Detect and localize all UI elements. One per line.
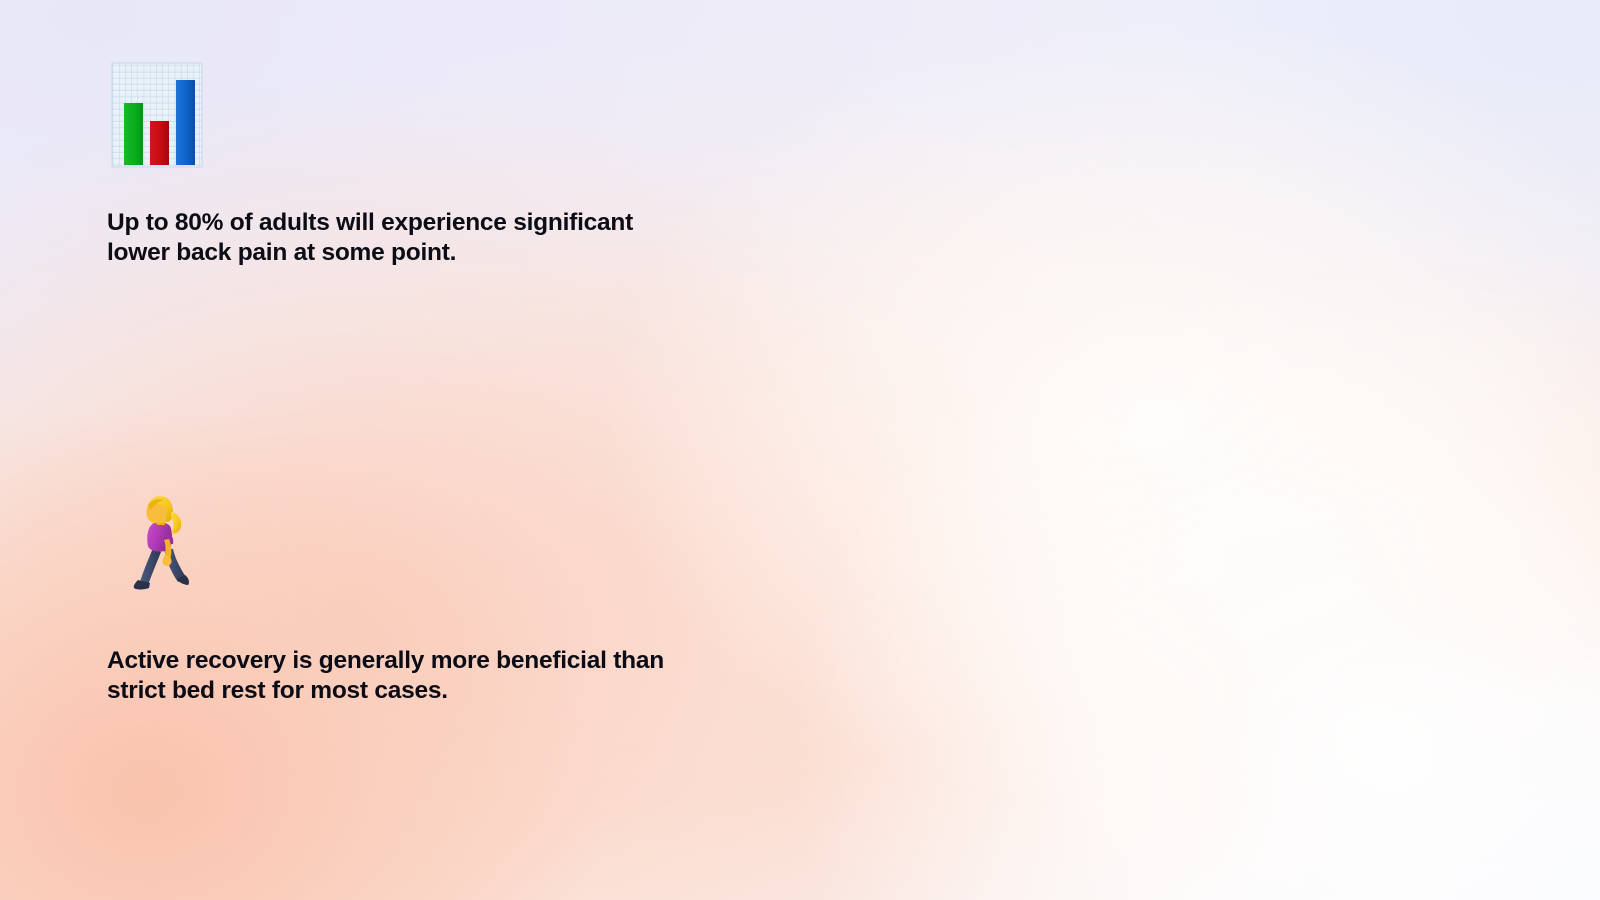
fact-card-active-recovery: Active recovery is generally more benefi… [0, 430, 800, 900]
fact-card-adults-prevalence: Up to 80% of adults will experience sign… [0, 0, 800, 430]
woman-walking-icon [127, 492, 800, 598]
bar-chart-icon [107, 60, 800, 170]
fact-text: Active recovery is generally more benefi… [107, 646, 667, 706]
fact-card-common-symptoms: Common symptoms include stiffness, decre… [800, 430, 1600, 900]
fact-card-acute-vs-chronic: Pain can be acute (up to 4 weeks) or chr… [800, 0, 1600, 430]
facts-grid: Up to 80% of adults will experience sign… [0, 0, 1600, 900]
fact-text: Up to 80% of adults will experience sign… [107, 208, 667, 268]
